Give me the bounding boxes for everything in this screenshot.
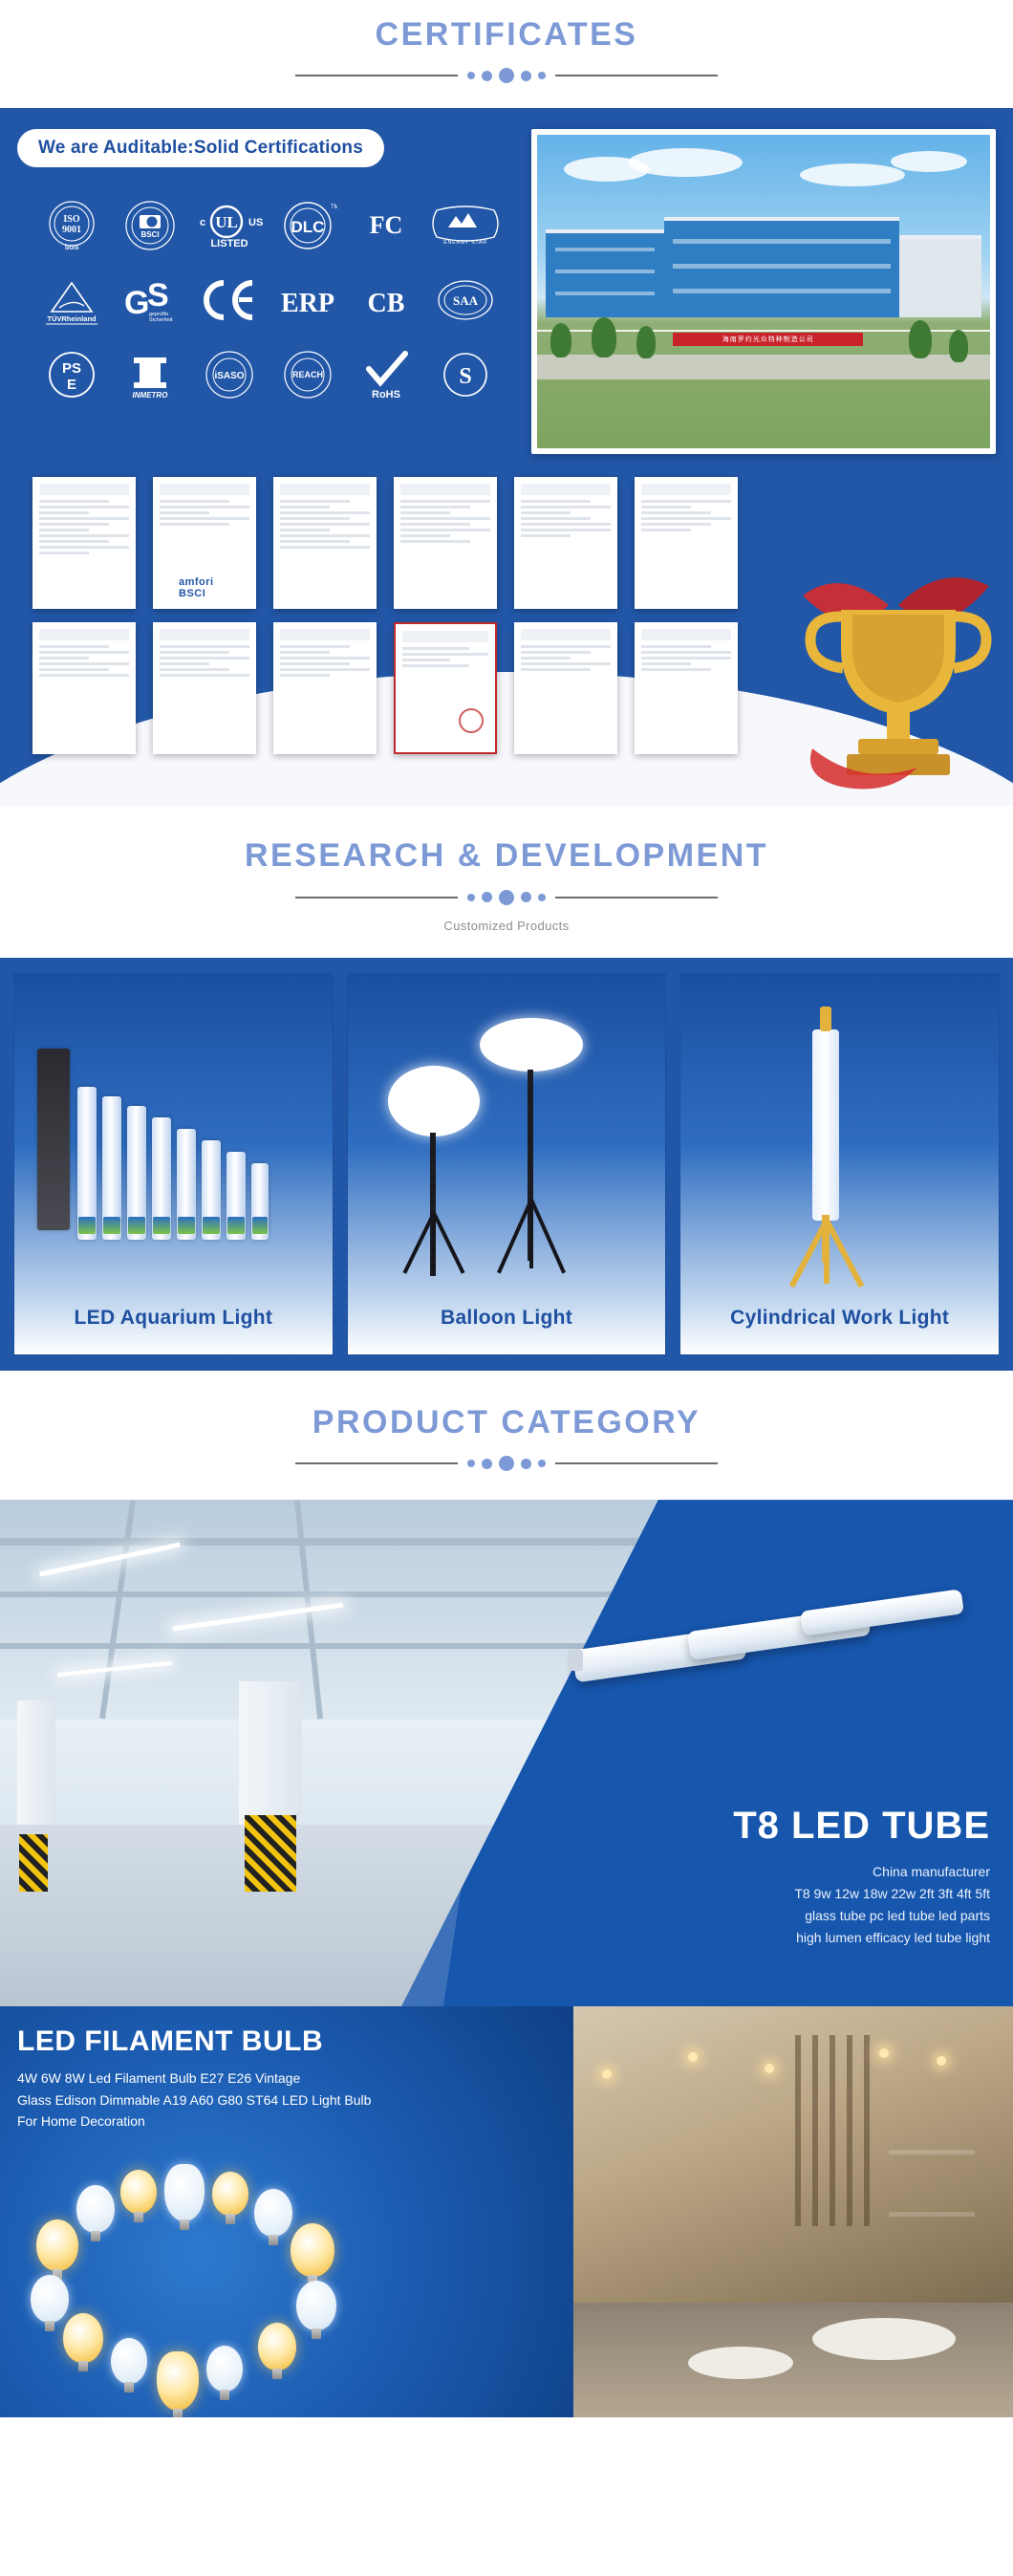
decoration-dots xyxy=(467,1456,546,1471)
svg-text:S: S xyxy=(147,277,169,314)
iso-9001-icon: ISO 9001 SGS xyxy=(32,198,111,253)
rd-card-balloon[interactable]: Balloon Light xyxy=(347,973,667,1355)
decoration-line-right xyxy=(555,1462,718,1464)
research-section-header: RESEARCH & DEVELOPMENT Customized Produc… xyxy=(0,806,1013,957)
heading-decoration-category xyxy=(0,1456,1013,1471)
decoration-line-left xyxy=(295,1462,458,1464)
factory-sign: 海南罗约光众特种制造公司 xyxy=(673,333,863,346)
cert-doc-certificate-6[interactable] xyxy=(635,622,738,754)
bsci-icon: BSCI xyxy=(111,198,189,253)
filament-line-2: Glass Edison Dimmable A19 A60 G80 ST64 L… xyxy=(17,2089,371,2111)
cert-doc-certificate-3[interactable] xyxy=(514,477,617,609)
inmetro-icon: INMETRO xyxy=(111,347,189,402)
svg-text:ISO: ISO xyxy=(64,214,80,225)
interior-showroom-photo xyxy=(516,2006,1013,2417)
cert-doc-compliance[interactable] xyxy=(32,622,136,754)
filament-line-3: For Home Decoration xyxy=(17,2111,371,2132)
decoration-dots xyxy=(467,890,546,905)
cert-doc-certificate-1[interactable] xyxy=(273,477,377,609)
cert-doc-tuv[interactable] xyxy=(153,622,256,754)
svg-text:c: c xyxy=(200,217,205,228)
svg-text:DLC: DLC xyxy=(291,218,325,236)
decoration-line-right xyxy=(555,897,718,898)
rd-card-aquarium[interactable]: LED Aquarium Light xyxy=(13,973,334,1355)
filament-line-1: 4W 6W 8W Led Filament Bulb E27 E26 Vinta… xyxy=(17,2067,371,2089)
svg-text:PS: PS xyxy=(62,360,81,377)
badge-row-2: TÜVRheinland G S geprüfte Sicherheit xyxy=(17,263,514,337)
t8-led-tube-banner[interactable]: T8 LED TUBE China manufacturer T8 9w 12w… xyxy=(0,1500,1013,2006)
amfori-bsci-logo: amfori BSCI xyxy=(179,576,230,599)
reach-icon: REACH xyxy=(269,347,347,402)
cert-doc-sgs-red[interactable] xyxy=(394,622,497,754)
cert-doc-certificate-5[interactable] xyxy=(514,622,617,754)
cylindrical-work-light-illustration xyxy=(680,974,999,1354)
rohs-icon: RoHS xyxy=(347,347,425,402)
filament-description: 4W 6W 8W Led Filament Bulb E27 E26 Vinta… xyxy=(17,2067,371,2132)
page-title-certificates: CERTIFICATES xyxy=(0,17,1013,53)
svg-text:BSCI: BSCI xyxy=(141,230,160,239)
svg-text:UL: UL xyxy=(215,213,238,231)
decoration-line-left xyxy=(295,75,458,76)
dlc-icon: DLC TM xyxy=(269,198,347,253)
svg-text:G: G xyxy=(124,285,149,321)
heading-decoration-research xyxy=(0,890,1013,905)
page-title-research: RESEARCH & DEVELOPMENT xyxy=(0,838,1013,874)
rd-card-label: LED Aquarium Light xyxy=(14,1307,333,1330)
cert-doc-certificate-4[interactable] xyxy=(635,477,738,609)
cert-doc-amfori-bsci[interactable]: amfori BSCI xyxy=(153,477,256,609)
cert-doc-certificate-2[interactable] xyxy=(394,477,497,609)
badge-row-3: PS E INMETRO xyxy=(17,337,514,412)
ul-listed-icon: c UL US LISTED xyxy=(190,198,269,253)
svg-text:TM: TM xyxy=(331,205,337,210)
svg-text:US: US xyxy=(248,217,263,228)
rd-card-cylindrical[interactable]: Cylindrical Work Light xyxy=(679,973,1000,1355)
svg-text:LISTED: LISTED xyxy=(210,238,248,249)
aquarium-light-illustration xyxy=(14,974,333,1354)
pse-icon: PS E xyxy=(32,347,111,402)
auditable-badge: We are Auditable:Solid Certifications xyxy=(17,129,384,167)
svg-text:9001: 9001 xyxy=(62,225,81,235)
t8-line-4: high lumen efficacy led tube light xyxy=(733,1927,990,1949)
certificates-banner: We are Auditable:Solid Certifications IS… xyxy=(0,108,1013,806)
svg-text:CB: CB xyxy=(368,289,405,318)
heading-decoration xyxy=(0,68,1013,83)
t8-description: China manufacturer T8 9w 12w 18w 22w 2ft… xyxy=(733,1861,990,1949)
svg-text:E: E xyxy=(67,377,76,393)
t8-title: T8 LED TUBE xyxy=(733,1805,990,1848)
t8-line-1: China manufacturer xyxy=(733,1861,990,1883)
svg-text:ENERGY STAR: ENERGY STAR xyxy=(443,240,487,246)
cb-mark-icon: CB xyxy=(347,272,425,328)
factory-photo: 海南罗约光众特种制造公司 xyxy=(537,135,990,448)
decoration-line-right xyxy=(555,75,718,76)
tuv-rheinland-icon: TÜVRheinland xyxy=(32,272,111,328)
svg-text:INMETRO: INMETRO xyxy=(133,391,169,400)
factory-photo-frame: 海南罗约光众特种制造公司 xyxy=(531,129,996,454)
svg-text:S: S xyxy=(459,364,471,389)
product-category-section-header: PRODUCT CATEGORY xyxy=(0,1371,1013,1500)
badge-row-1: ISO 9001 SGS BSCI xyxy=(17,188,514,263)
certificates-top-row: We are Auditable:Solid Certifications IS… xyxy=(17,129,996,454)
svg-text:Sicherheit: Sicherheit xyxy=(149,317,173,323)
cert-doc-test-report[interactable] xyxy=(273,622,377,754)
t8-text-block: T8 LED TUBE China manufacturer T8 9w 12w… xyxy=(733,1805,990,1949)
balloon-light-illustration xyxy=(348,974,666,1354)
svg-text:SGS: SGS xyxy=(65,245,79,251)
product-landing-page: CERTIFICATES We are Auditable:Solid Cert… xyxy=(0,0,1013,2417)
red-seal-icon xyxy=(459,708,484,733)
certification-logos-panel: We are Auditable:Solid Certifications IS… xyxy=(17,129,514,454)
certificates-section-header: CERTIFICATES xyxy=(0,0,1013,108)
gs-mark-icon: G S geprüfte Sicherheit xyxy=(111,272,189,328)
svg-text:SAA: SAA xyxy=(453,293,479,308)
rd-card-label: Cylindrical Work Light xyxy=(680,1307,999,1330)
t8-line-3: glass tube pc led tube led parts xyxy=(733,1905,990,1927)
rd-card-label: Balloon Light xyxy=(348,1307,666,1330)
filament-title: LED FILAMENT BULB xyxy=(17,2025,371,2058)
isaso-icon: iSASO xyxy=(190,347,269,402)
led-filament-bulb-banner[interactable]: LED FILAMENT BULB 4W 6W 8W Led Filament … xyxy=(0,2006,1013,2417)
decoration-line-left xyxy=(295,897,458,898)
trophy-icon xyxy=(784,557,1013,806)
research-subtitle: Customized Products xyxy=(0,919,1013,933)
cert-doc-wct[interactable] xyxy=(32,477,136,609)
research-products-strip: LED Aquarium Light Balloon Light xyxy=(0,958,1013,1371)
filament-bulb-collection xyxy=(29,2164,373,2413)
ce-mark-icon xyxy=(190,272,269,328)
svg-text:TÜVRheinland: TÜVRheinland xyxy=(48,314,97,323)
t8-line-2: T8 9w 12w 18w 22w 2ft 3ft 4ft 5ft xyxy=(733,1883,990,1905)
filament-text-block: LED FILAMENT BULB 4W 6W 8W Led Filament … xyxy=(17,2025,371,2132)
svg-text:ERP: ERP xyxy=(281,289,334,318)
decoration-dots xyxy=(467,68,546,83)
fcc-icon: FC xyxy=(347,198,425,253)
svg-text:RoHS: RoHS xyxy=(372,389,400,400)
svg-text:REACH: REACH xyxy=(292,370,323,379)
sgs-circle-icon: S xyxy=(426,347,505,402)
erp-icon: ERP xyxy=(269,272,347,328)
t8-tube-products xyxy=(573,1600,975,1753)
svg-text:iSASO: iSASO xyxy=(214,371,244,381)
certification-badge-grid: ISO 9001 SGS BSCI xyxy=(17,188,514,412)
saa-icon: SAA xyxy=(426,272,505,328)
svg-text:FC: FC xyxy=(370,211,403,239)
page-title-product-category: PRODUCT CATEGORY xyxy=(0,1405,1013,1440)
energy-star-icon: ENERGY STAR xyxy=(426,198,505,253)
